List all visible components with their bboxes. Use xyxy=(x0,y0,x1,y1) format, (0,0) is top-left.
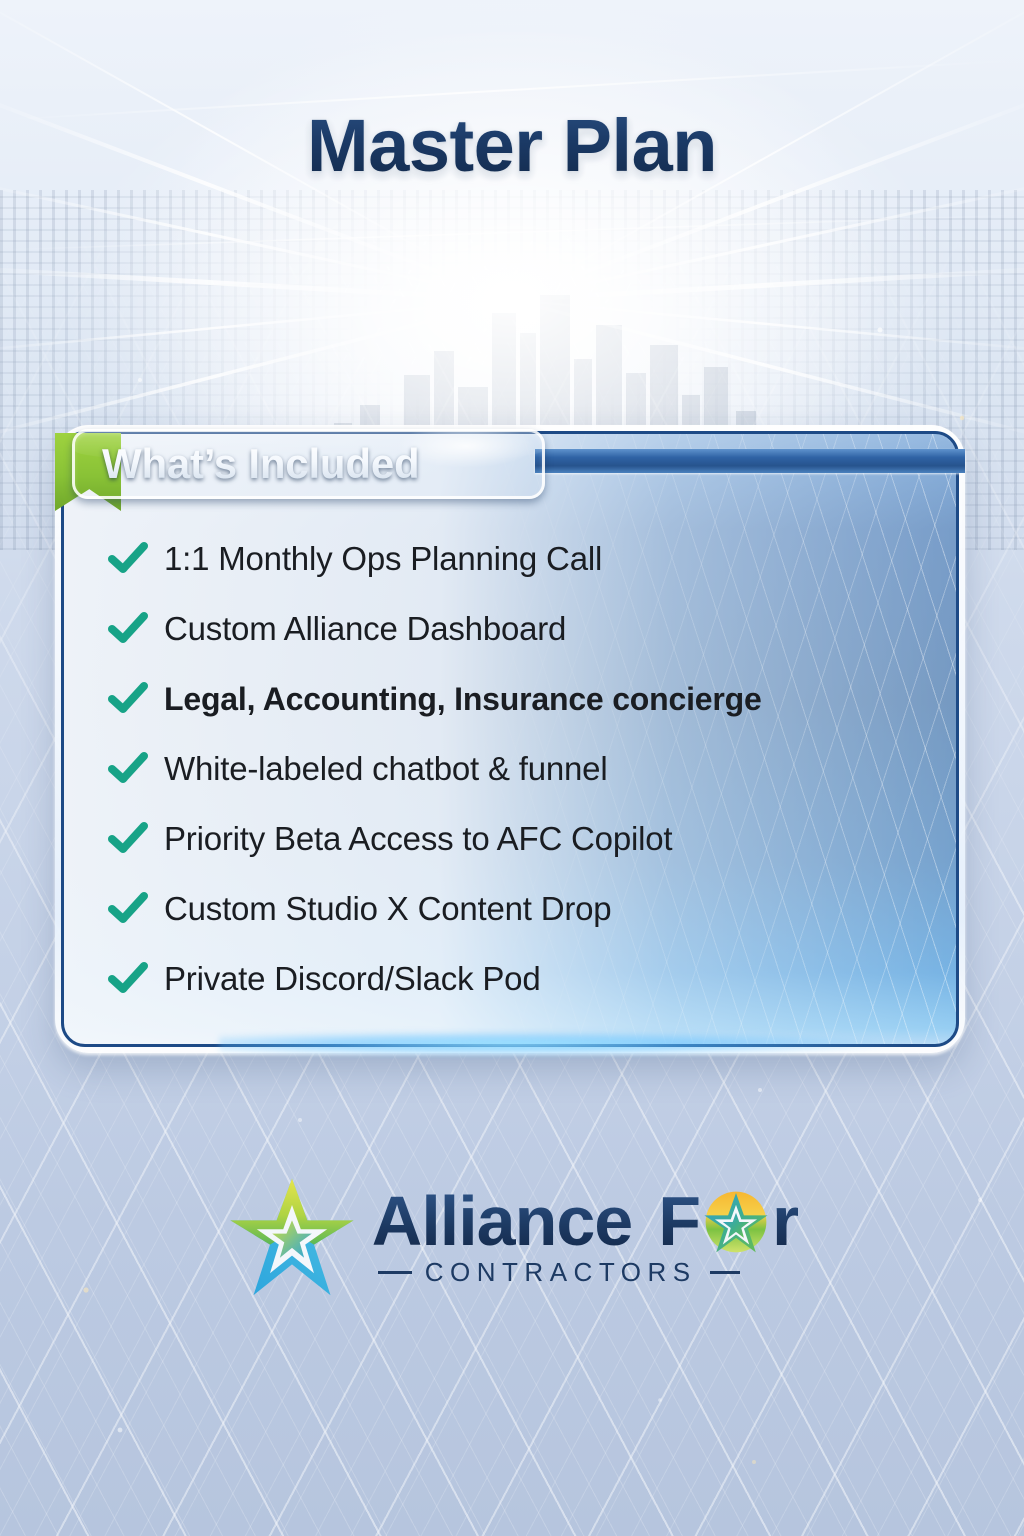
list-item-label: Private Discord/Slack Pod xyxy=(164,960,540,998)
list-item-label: Priority Beta Access to AFC Copilot xyxy=(164,820,672,858)
included-banner-group: What’s Included xyxy=(55,421,655,503)
check-icon xyxy=(108,542,164,576)
check-icon xyxy=(108,822,164,856)
logo-wordmark: Alliance F xyxy=(372,1188,798,1288)
tagline-dash-left-icon xyxy=(378,1271,412,1274)
logo-word-for-prefix: F xyxy=(658,1188,700,1255)
check-icon xyxy=(108,892,164,926)
list-item-label: Custom Alliance Dashboard xyxy=(164,610,566,648)
list-item: Priority Beta Access to AFC Copilot xyxy=(108,804,908,874)
logo-tagline: CONTRACTORS xyxy=(425,1257,697,1288)
list-item: Custom Studio X Content Drop xyxy=(108,874,908,944)
page-title: Master Plan xyxy=(0,103,1024,188)
logo-word-alliance: Alliance xyxy=(372,1188,632,1255)
tagline-dash-right-icon xyxy=(710,1271,740,1274)
star-circle-emblem-icon xyxy=(703,1189,769,1255)
list-item: 1:1 Monthly Ops Planning Call xyxy=(108,524,908,594)
included-banner: What’s Included xyxy=(72,429,545,499)
list-item-label: Custom Studio X Content Drop xyxy=(164,890,611,928)
list-item: Private Discord/Slack Pod xyxy=(108,944,908,1014)
check-icon xyxy=(108,682,164,716)
banner-extension-bar xyxy=(535,449,965,473)
list-item-label: 1:1 Monthly Ops Planning Call xyxy=(164,540,602,578)
check-icon xyxy=(108,962,164,996)
list-item: Legal, Accounting, Insurance concierge xyxy=(108,664,908,734)
list-item-label: Legal, Accounting, Insurance concierge xyxy=(164,681,762,718)
included-list: 1:1 Monthly Ops Planning Call Custom All… xyxy=(108,524,908,1014)
list-item: White-labeled chatbot & funnel xyxy=(108,734,908,804)
list-item: Custom Alliance Dashboard xyxy=(108,594,908,664)
check-icon xyxy=(108,752,164,786)
logo-tagline-row: CONTRACTORS xyxy=(372,1257,798,1288)
logo-word-for-suffix: r xyxy=(772,1188,798,1255)
alliance-star-icon xyxy=(226,1172,358,1304)
brand-logo: Alliance F xyxy=(0,1172,1024,1304)
list-item-label: White-labeled chatbot & funnel xyxy=(164,750,607,788)
banner-label: What’s Included xyxy=(102,440,419,488)
check-icon xyxy=(108,612,164,646)
poster: Master Plan What’s Included 1:1 Monthly … xyxy=(0,0,1024,1536)
